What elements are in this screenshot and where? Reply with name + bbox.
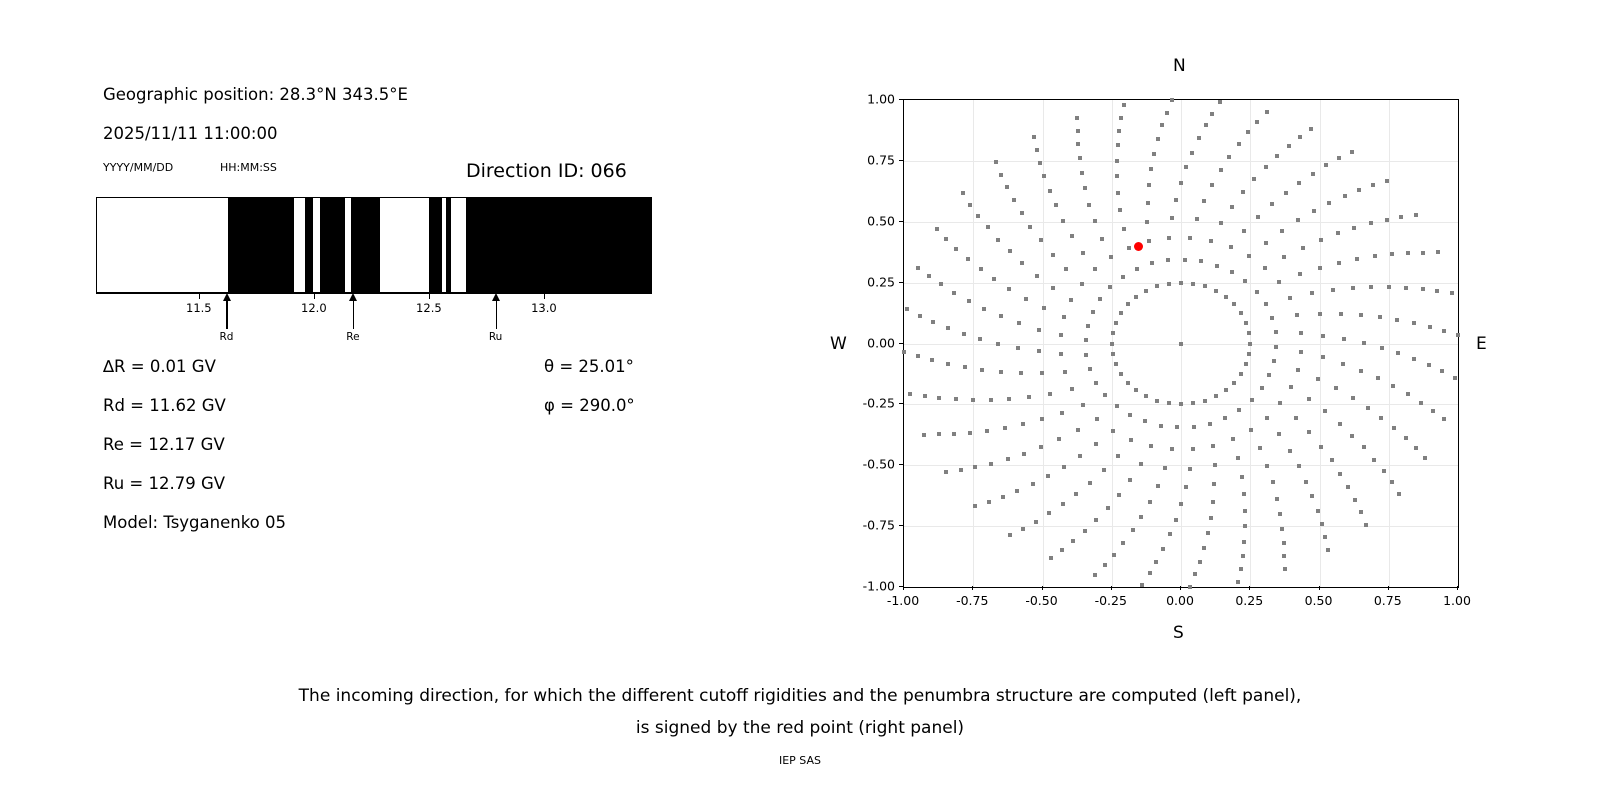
penumbra-spectrum [96,197,652,293]
direction-point [1337,261,1341,265]
direction-point [992,277,996,281]
direction-point [1378,315,1382,319]
direction-point [1149,444,1153,448]
direction-point [952,432,956,436]
direction-point [1214,289,1218,293]
y-tick-mark [899,221,903,222]
direction-point [1288,296,1292,300]
direction-point [1232,302,1236,306]
direction-point [1239,372,1243,376]
direction-point [1111,429,1115,433]
direction-point [1323,409,1327,413]
direction-point [1343,194,1347,198]
y-tick-label: -0.50 [841,457,895,472]
direction-point [1083,529,1087,533]
direction-point [1278,512,1282,516]
y-tick-mark [899,282,903,283]
y-tick-mark [899,586,903,587]
direction-point [1380,346,1384,350]
direction-point [1034,520,1038,524]
direction-point [1211,444,1215,448]
direction-point [1179,502,1183,506]
gridline-vertical [1389,100,1390,587]
direction-point [1069,298,1073,302]
direction-point [1255,120,1259,124]
arrow-up-icon [349,293,357,301]
direction-point [961,191,965,195]
direction-point [1191,401,1195,405]
direction-point [989,398,993,402]
direction-point [1297,464,1301,468]
direction-point [916,354,920,358]
direction-point [1203,399,1207,403]
direction-point [1008,249,1012,253]
direction-point [935,227,939,231]
direction-point [1140,583,1144,587]
direction-point [1049,556,1053,560]
direction-point [1210,112,1214,116]
direction-point [959,468,963,472]
direction-point [1146,201,1150,205]
direction-point [1111,352,1115,356]
direction-point [1061,502,1065,506]
axis-tick-label: 13.0 [531,301,557,315]
direction-point [1145,220,1149,224]
direction-point [1353,498,1357,502]
direction-point [1274,330,1278,334]
direction-point [1116,143,1120,147]
direction-point [1214,394,1218,398]
direction-point [1080,282,1084,286]
direction-point [966,257,970,261]
x-tick-mark [1388,586,1389,590]
direction-point [1364,523,1368,527]
direction-point [918,314,922,318]
direction-point [1060,411,1064,415]
direction-point [967,299,971,303]
direction-point [1334,386,1338,390]
axis-tick-label: 12.0 [301,301,327,315]
direction-point [946,362,950,366]
direction-point [1250,398,1254,402]
direction-point [1119,372,1123,376]
direction-point [1304,480,1308,484]
direction-point [999,314,1003,318]
figure-caption: The incoming direction, for which the di… [0,680,1600,744]
direction-point [1154,560,1158,564]
direction-point [1242,229,1246,233]
marker-label: Re [346,331,359,343]
direction-point [1170,216,1174,220]
direction-point [1117,129,1121,133]
direction-point [954,397,958,401]
direction-point [1369,221,1373,225]
direction-point [1224,295,1228,299]
direction-point [1295,313,1299,317]
direction-point [1453,376,1457,380]
direction-point [1357,188,1361,192]
direction-point [1320,522,1324,526]
direction-point [1114,321,1118,325]
direction-point [1301,246,1305,250]
credit-label: IEP SAS [0,754,1600,767]
direction-point [1148,571,1152,575]
x-tick-mark [1180,586,1181,590]
direction-point [1131,528,1135,532]
arrow-shaft [226,297,227,329]
stat-theta: θ = 25.01° [544,357,634,376]
direction-point [1126,302,1130,306]
direction-point [1369,285,1373,289]
direction-point [1174,518,1178,522]
direction-point [1272,359,1276,363]
direction-point [976,214,980,218]
direction-point [1337,156,1341,160]
direction-point [1311,172,1315,176]
direction-point [1351,286,1355,290]
direction-point [968,203,972,207]
direction-point [1247,254,1251,258]
direction-point [1247,331,1251,335]
direction-point [1094,381,1098,385]
direction-point [1239,567,1243,571]
direction-point [1421,251,1425,255]
direction-point [1435,289,1439,293]
direction-point [1100,237,1104,241]
direction-point [1275,497,1279,501]
direction-point [1080,171,1084,175]
direction-point [1237,408,1241,412]
direction-point [1093,219,1097,223]
direction-point [1003,426,1007,430]
penumbra-band-forbidden [446,198,451,292]
axis-baseline [96,293,652,294]
direction-point [1126,381,1130,385]
direction-point [1385,218,1389,222]
direction-point [1294,416,1298,420]
arrow-shaft [496,297,497,329]
direction-point [1202,546,1206,550]
direction-point [1390,252,1394,256]
direction-point [1063,370,1067,374]
direction-point [916,266,920,270]
compass-east-label: E [1476,334,1487,354]
direction-point [1094,442,1098,446]
direction-point [1260,386,1264,390]
y-tick-label: 0.25 [841,274,895,289]
direction-point [1414,213,1418,217]
direction-point [1212,482,1216,486]
direction-point [1321,355,1325,359]
direction-point [1012,198,1016,202]
direction-point [1076,129,1080,133]
direction-point [1190,151,1194,155]
direction-point [1016,346,1020,350]
direction-point [1031,482,1035,486]
direction-point [1427,363,1431,367]
direction-point [1015,489,1019,493]
rigidity-axis: 11.512.012.513.0RdReRu [96,293,654,348]
direction-point [1028,225,1032,229]
direction-point [1022,452,1026,456]
direction-point [1163,466,1167,470]
direction-point [1191,447,1195,451]
direction-point [1094,518,1098,522]
direction-point [1218,100,1222,104]
direction-point [1352,226,1356,230]
direction-point [1051,286,1055,290]
direction-point [1062,465,1066,469]
direction-point [1371,183,1375,187]
stat-model: Model: Tsyganenko 05 [103,513,286,532]
x-tick-mark [1249,586,1250,590]
date-format-hint: YYYY/MM/DD [103,161,173,174]
direction-point [986,225,990,229]
direction-point [1423,456,1427,460]
gridline-vertical [1320,100,1321,587]
direction-point [1385,179,1389,183]
direction-point [1242,540,1246,544]
y-tick-label: -1.00 [841,579,895,594]
direction-point [902,350,906,354]
direction-point [1336,231,1340,235]
direction-point [1282,541,1286,545]
direction-point [1046,474,1050,478]
direction-point [1236,456,1240,460]
direction-point [1179,181,1183,185]
direction-point [1231,437,1235,441]
direction-point [1208,422,1212,426]
direction-point [1318,312,1322,316]
direction-point [1143,419,1147,423]
arrow-up-icon [492,293,500,301]
y-tick-mark [899,464,903,465]
direction-point [1075,116,1079,120]
direction-point [1111,331,1115,335]
direction-point [1167,236,1171,240]
direction-point [1240,475,1244,479]
axis-tick [199,293,200,299]
geographic-position-text: Geographic position: 28.3°N 343.5°E [103,85,408,104]
stat-delta-r: ∆R = 0.01 GV [103,357,216,376]
direction-point [968,431,972,435]
direction-point [1127,246,1131,250]
direction-point [1110,342,1114,346]
direction-point [944,237,948,241]
direction-point [980,368,984,372]
direction-point [1139,515,1143,519]
direction-point [905,307,909,311]
direction-point [1382,469,1386,473]
direction-point [1040,371,1044,375]
direction-point [1035,274,1039,278]
direction-point [1442,417,1446,421]
direction-point [1280,229,1284,233]
direction-point [1404,286,1408,290]
direction-point [1242,492,1246,496]
direction-point [1392,426,1396,430]
direction-point [999,370,1003,374]
direction-point [1265,110,1269,114]
direction-point [1456,333,1460,337]
direction-point [1174,198,1178,202]
x-tick-mark [903,586,904,590]
direction-point [1297,181,1301,185]
direction-point [944,470,948,474]
direction-point [1076,142,1080,146]
selected-direction-marker[interactable] [1134,242,1143,251]
direction-point [1359,313,1363,317]
y-tick-mark [899,525,903,526]
arrow-shaft [353,297,354,329]
direction-point [1116,454,1120,458]
direction-point [1391,384,1395,388]
x-tick-label: 0.00 [1166,593,1194,608]
direction-point [1027,395,1031,399]
direction-point [1059,352,1063,356]
direction-point [1239,311,1243,315]
direction-point [1039,445,1043,449]
direction-point [1199,259,1203,263]
x-tick-label: 0.25 [1235,593,1263,608]
direction-point [927,274,931,278]
stat-ru: Ru = 12.79 GV [103,474,225,493]
direction-point [1108,285,1112,289]
direction-point [1122,103,1126,107]
direction-point [1359,369,1363,373]
polar-scatter-plot[interactable] [903,99,1459,588]
direction-point [1165,111,1169,115]
direction-point [1193,572,1197,576]
direction-point [1019,371,1023,375]
direction-point [1351,396,1355,400]
direction-point [1048,189,1052,193]
penumbra-band-forbidden [429,198,442,292]
y-tick-label: 0.00 [841,335,895,350]
direction-point [1150,261,1154,265]
direction-point [939,282,943,286]
direction-point [963,365,967,369]
penumbra-band-forbidden [228,198,294,292]
direction-point [1008,533,1012,537]
direction-point [1206,531,1210,535]
direction-point [1060,548,1064,552]
direction-point [1274,345,1278,349]
direction-point [1188,236,1192,240]
direction-point [1287,144,1291,148]
direction-point [979,267,983,271]
direction-point [1298,135,1302,139]
direction-point [1064,267,1068,271]
direction-point [937,396,941,400]
direction-point [930,358,934,362]
direction-point [1084,338,1088,342]
direction-point [1241,554,1245,558]
direction-point [954,247,958,251]
direction-point [1081,403,1085,407]
direction-point [1310,494,1314,498]
direction-point [1331,288,1335,292]
direction-point [1247,352,1251,356]
direction-point [1167,282,1171,286]
direction-point [1155,284,1159,288]
direction-point [1265,416,1269,420]
direction-point [1280,527,1284,531]
direction-point [1128,413,1132,417]
direction-point [922,433,926,437]
direction-point [1078,156,1082,160]
arrow-up-icon [223,293,231,301]
y-tick-mark [899,99,903,100]
gridline-horizontal [904,161,1458,162]
direction-point [1299,350,1303,354]
direction-point [1265,464,1269,468]
direction-point [1116,191,1120,195]
direction-point [1135,267,1139,271]
direction-point [1278,401,1282,405]
direction-point [1224,388,1228,392]
direction-point [1243,509,1247,513]
direction-point [1070,387,1074,391]
direction-point [1156,137,1160,141]
direction-point [1246,130,1250,134]
direction-point [1330,458,1334,462]
direction-point [1017,321,1021,325]
direction-point [1219,221,1223,225]
direction-point [1155,399,1159,403]
x-tick-mark [1457,586,1458,590]
direction-point [923,394,927,398]
penumbra-band-forbidden [466,198,652,292]
direction-point [1047,511,1051,515]
direction-point [1170,447,1174,451]
direction-point [1288,449,1292,453]
axis-tick [314,293,315,299]
direction-point [1264,241,1268,245]
direction-point [1275,154,1279,158]
direction-point [1323,535,1327,539]
direction-point [1021,422,1025,426]
direction-point [1088,481,1092,485]
direction-point [1321,334,1325,338]
direction-point [1183,258,1187,262]
direction-point [1243,279,1247,283]
direction-point [1307,397,1311,401]
direction-point [1406,251,1410,255]
direction-point [1215,264,1219,268]
direction-point [1039,238,1043,242]
direction-point [973,504,977,508]
direction-point [1042,306,1046,310]
direction-point [1399,215,1403,219]
direction-point [1346,485,1350,489]
direction-point [1134,388,1138,392]
direction-point [1396,351,1400,355]
direction-point [1074,492,1078,496]
axis-tick [429,293,430,299]
direction-point [1020,261,1024,265]
direction-point [1179,402,1183,406]
direction-point [1264,165,1268,169]
direction-point [1236,580,1240,584]
direction-point [1324,163,1328,167]
x-tick-mark [972,586,973,590]
direction-point [1338,472,1342,476]
stat-re: Re = 12.17 GV [103,435,225,454]
x-tick-label: -1.00 [887,593,919,608]
direction-point [1032,135,1036,139]
direction-point [1088,367,1092,371]
